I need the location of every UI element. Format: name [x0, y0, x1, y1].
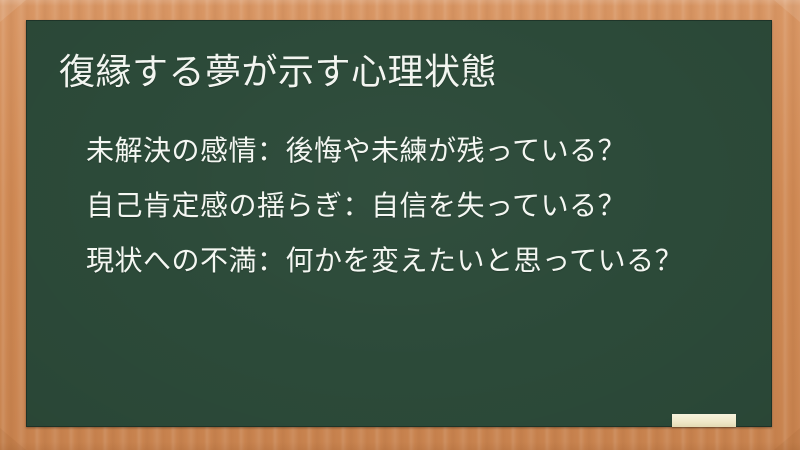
- frame-miter-bottom-right: [774, 428, 800, 450]
- slide-title: 復縁する夢が示す心理状態: [59, 51, 497, 95]
- frame-miter-bottom-left: [0, 428, 26, 450]
- frame-miter-top-right: [774, 0, 800, 22]
- frame-miter-top-left: [0, 0, 26, 22]
- chalkboard-surface: 復縁する夢が示す心理状態 未解決の感情：後悔や未練が残っている？ 自己肯定感の揺…: [26, 20, 772, 427]
- chalkboard-slide: 復縁する夢が示す心理状態 未解決の感情：後悔や未練が残っている？ 自己肯定感の揺…: [0, 0, 800, 450]
- bullet-item-3: 現状への不満：何かを変えたいと思っている？: [86, 233, 786, 288]
- bullet-item-1: 未解決の感情：後悔や未練が残っている？: [86, 123, 786, 178]
- chalkboard-eraser: [672, 414, 736, 427]
- bullet-list: 未解決の感情：後悔や未練が残っている？ 自己肯定感の揺らぎ：自信を失っている？ …: [86, 123, 786, 288]
- bullet-item-2: 自己肯定感の揺らぎ：自信を失っている？: [86, 178, 786, 233]
